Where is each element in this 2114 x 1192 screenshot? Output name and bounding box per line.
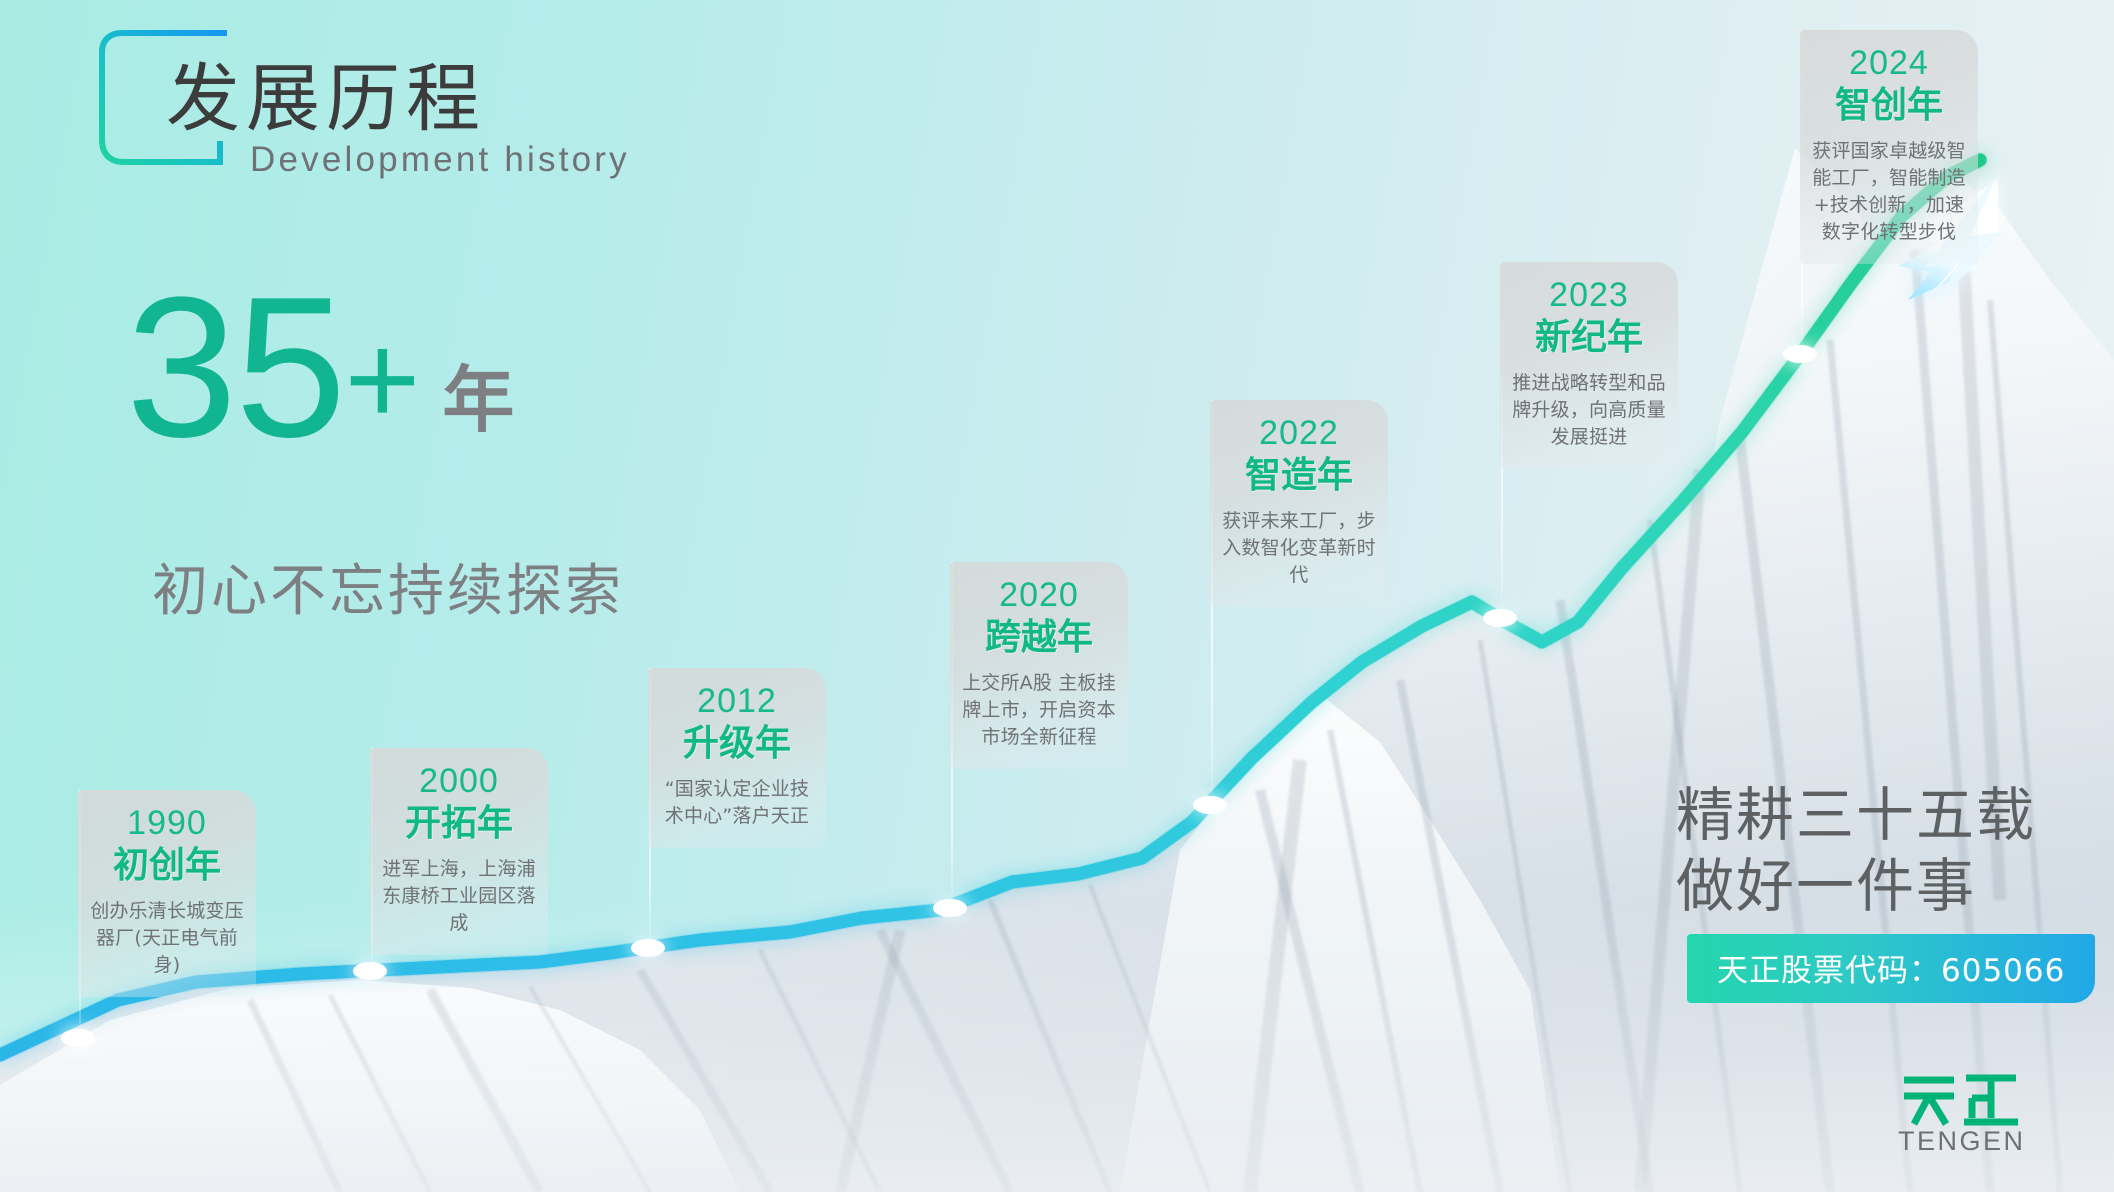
- footer-slogan-line2: 做好一件事: [1676, 851, 2036, 922]
- milestone-year: 2020: [960, 576, 1118, 615]
- footer-slogan: 精耕三十五载 做好一件事: [1676, 780, 2036, 922]
- page-title: 发展历程: [166, 62, 486, 136]
- years-plus-sign: +: [344, 314, 420, 454]
- milestone-year: 1990: [88, 804, 246, 843]
- tengen-en-name: TENGEN: [1898, 1126, 2022, 1157]
- page-subtitle: Development history: [250, 140, 630, 180]
- stock-code-badge: 天正股票代码：605066: [1687, 934, 2095, 1003]
- hero-slogan: 初心不忘持续探索: [152, 546, 624, 627]
- milestone-year: 2024: [1810, 44, 1968, 83]
- milestone-desc: 创办乐清长城变压器厂(天正电气前身): [88, 898, 246, 979]
- footer-slogan-line1: 精耕三十五载: [1676, 780, 2036, 851]
- tengen-logo-icon: TENGEN: [1898, 1066, 2022, 1157]
- milestone-name: 开拓年: [380, 801, 538, 846]
- milestone-desc: 进军上海，上海浦东康桥工业园区落成: [380, 856, 538, 937]
- milestone-year: 2023: [1510, 276, 1668, 315]
- milestone-desc: “国家认定企业技术中心”落户天正: [658, 776, 816, 830]
- milestone-name: 智造年: [1220, 453, 1378, 498]
- milestone-year: 2012: [658, 682, 816, 721]
- milestone-name: 新纪年: [1510, 315, 1668, 360]
- milestone-card-2024[interactable]: 2024 智创年 获评国家卓越级智能工厂，智能制造+技术创新，加速数字化转型步伐: [1800, 30, 1978, 264]
- milestone-desc: 上交所A股 主板挂牌上市，开启资本市场全新征程: [960, 670, 1118, 751]
- tengen-cn-mark-icon: [1898, 1066, 2022, 1128]
- milestone-card-2023[interactable]: 2023 新纪年 推进战略转型和品牌升级，向高质量发展挺进: [1500, 262, 1678, 469]
- milestone-desc: 获评国家卓越级智能工厂，智能制造+技术创新，加速数字化转型步伐: [1810, 138, 1968, 246]
- milestone-name: 升级年: [658, 721, 816, 766]
- years-unit: 年: [420, 364, 514, 454]
- milestone-desc: 获评未来工厂，步入数智化变革新时代: [1220, 508, 1378, 589]
- milestone-card-1990[interactable]: 1990 初创年 创办乐清长城变压器厂(天正电气前身): [78, 790, 256, 997]
- milestone-card-2000[interactable]: 2000 开拓年 进军上海，上海浦东康桥工业园区落成: [370, 748, 548, 955]
- milestone-card-2020[interactable]: 2020 跨越年 上交所A股 主板挂牌上市，开启资本市场全新征程: [950, 562, 1128, 769]
- milestone-card-2022[interactable]: 2022 智造年 获评未来工厂，步入数智化变革新时代: [1210, 400, 1388, 607]
- milestone-desc: 推进战略转型和品牌升级，向高质量发展挺进: [1510, 370, 1668, 451]
- years-number: 35: [126, 282, 344, 454]
- milestone-name: 初创年: [88, 843, 246, 888]
- development-history-poster: 发展历程 Development history 35 + 年 初心不忘持续探索…: [0, 0, 2114, 1192]
- milestone-card-2012[interactable]: 2012 升级年 “国家认定企业技术中心”落户天正: [648, 668, 826, 848]
- milestone-name: 跨越年: [960, 615, 1118, 660]
- milestone-year: 2000: [380, 762, 538, 801]
- milestone-year: 2022: [1220, 414, 1378, 453]
- years-highlight: 35 + 年: [126, 282, 514, 454]
- milestone-name: 智创年: [1810, 83, 1968, 128]
